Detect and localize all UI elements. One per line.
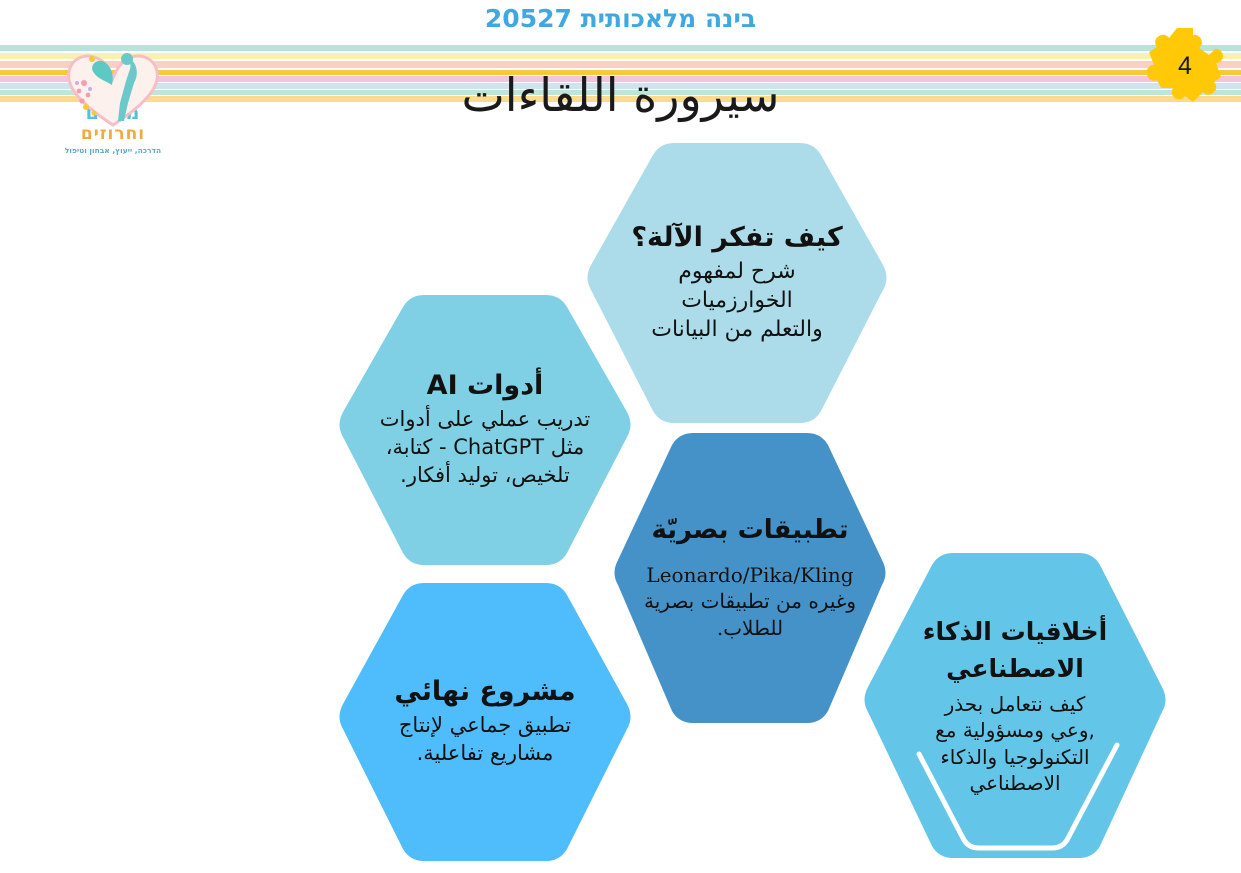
hexagon-title: أدوات AI (356, 370, 614, 402)
course-title: בינה מלאכותית 20527 (0, 4, 1241, 33)
decorative-stripe (0, 53, 1241, 59)
slide-canvas: בינה מלאכותית 20527 מילים וחרוזים הדרכה,… (0, 0, 1241, 873)
hexagon-ai-ethics[interactable]: أخلاقيات الذكاء الاصطناعي كيف نتعامل بحذ… (855, 548, 1175, 863)
hexagon-final-project[interactable]: مشروع نهائي تطبيق جماعي لإنتاج مشاريع تف… (330, 578, 640, 866)
hexagon-title: مشروع نهائي (356, 676, 614, 708)
decorative-stripe (0, 45, 1241, 51)
page-title: سيرورة اللقاءات (0, 68, 1241, 122)
hexagon-body: تطبيق جماعي لإنتاج مشاريع تفاعلية. (356, 712, 614, 767)
hexagon-title: أخلاقيات الذكاء الاصطناعي (881, 614, 1149, 687)
hexagon-body: كيف نتعامل بحذر ,وعي ومسؤولية مع التكنول… (881, 691, 1149, 797)
hexagon-body: Leonardo/Pika/Kling وغيره من تطبيقات بصر… (631, 562, 869, 641)
hexagon-title: كيف تفكر الآلة؟ (604, 222, 870, 254)
decorative-stripe (0, 61, 1241, 68)
hexagon-title: تطبيقات بصريّة (631, 515, 869, 546)
hexagon-body: شرح لمفهوم الخوارزميات والتعلم من البيان… (604, 257, 870, 344)
hexagon-visual-applications[interactable]: تطبيقات بصريّة Leonardo/Pika/Kling وغيره… (605, 428, 895, 728)
hexagon-body: تدريب عملي على أدوات مثل ChatGPT - كتابة… (356, 406, 614, 489)
hexagon-ai-tools[interactable]: أدوات AI تدريب عملي على أدوات مثل ChatGP… (330, 290, 640, 570)
